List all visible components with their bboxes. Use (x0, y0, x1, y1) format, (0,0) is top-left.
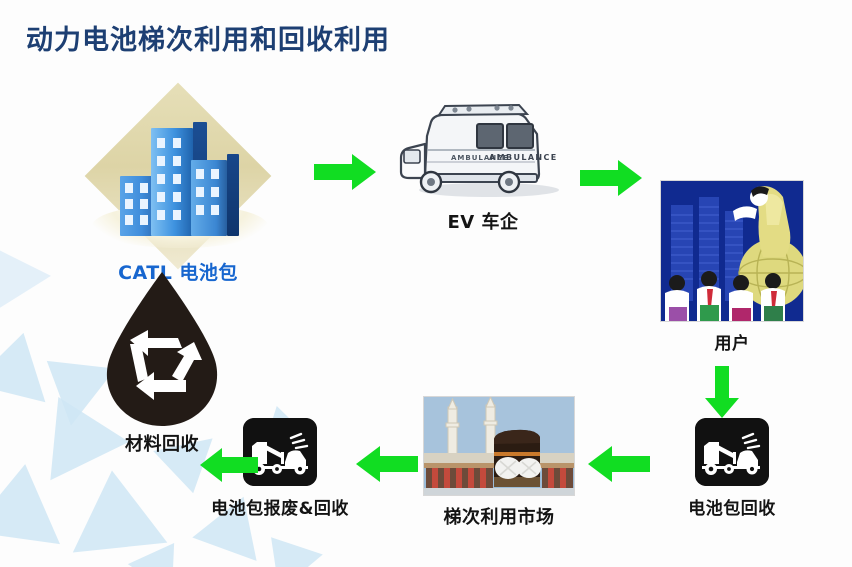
diagram-canvas: 动力电池梯次利用和回收利用 (0, 0, 852, 567)
watermark-triangle (65, 465, 168, 552)
building-right (191, 160, 227, 236)
node-ev-label: EV 车企 (378, 208, 588, 234)
svg-text:AMBULANCE: AMBULANCE (489, 153, 558, 162)
node-scrap-label: 电池包报废&回收 (186, 494, 374, 519)
node-ev[interactable]: AMBULANCE AMBULANCE EV 车企 (378, 100, 588, 234)
node-pack-recycle[interactable]: 电池包回收 (652, 418, 812, 519)
arrow-scrap-to-material (198, 446, 260, 484)
watermark-triangle (0, 324, 60, 403)
node-material[interactable]: 材料回收 (72, 268, 252, 456)
building-center (151, 128, 193, 236)
node-catl[interactable]: CATL 电池包 (78, 104, 278, 285)
recycle-droplet-icon (86, 268, 238, 436)
node-users[interactable]: 用户 (652, 180, 812, 354)
arrow-ev-to-users (578, 158, 644, 198)
building-right-shade (227, 154, 239, 236)
watermark-triangle (249, 519, 323, 567)
watermark-triangle (0, 458, 70, 544)
node-market[interactable]: 梯次利用市场 (414, 396, 584, 529)
tow-truck-icon (695, 418, 769, 486)
node-users-label: 用户 (652, 329, 812, 354)
watermark-triangle (128, 528, 196, 567)
arrow-users-to-pack-recycle (702, 364, 742, 420)
node-market-label: 梯次利用市场 (414, 503, 584, 529)
arrow-catl-to-ev (312, 152, 378, 192)
arrow-pack-recycle-to-market (586, 444, 652, 484)
users-city-icon (660, 180, 804, 322)
node-pack-recycle-label: 电池包回收 (652, 494, 812, 519)
watermark-triangle (0, 234, 51, 308)
page-title: 动力电池梯次利用和回收利用 (26, 18, 390, 57)
market-building-icon (423, 396, 575, 496)
ev-van-icon: AMBULANCE AMBULANCE (385, 100, 581, 198)
arrow-market-to-scrap (354, 444, 420, 484)
office-buildings-icon (88, 104, 268, 254)
